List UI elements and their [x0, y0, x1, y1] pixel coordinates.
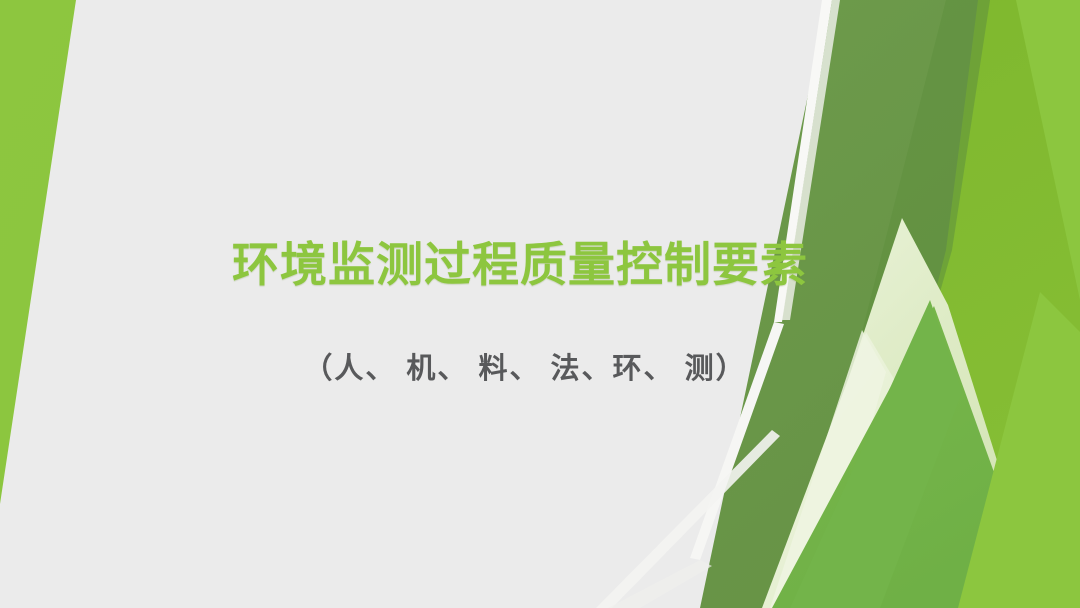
presentation-slide: 环境监测过程质量控制要素 （人、 机、 料、 法、环、 测）: [0, 0, 1080, 608]
page-title: 环境监测过程质量控制要素: [0, 238, 1040, 293]
slide-text-layer: 环境监测过程质量控制要素 （人、 机、 料、 法、环、 测）: [0, 0, 1080, 608]
page-subtitle: （人、 机、 料、 法、环、 测）: [0, 352, 1050, 387]
